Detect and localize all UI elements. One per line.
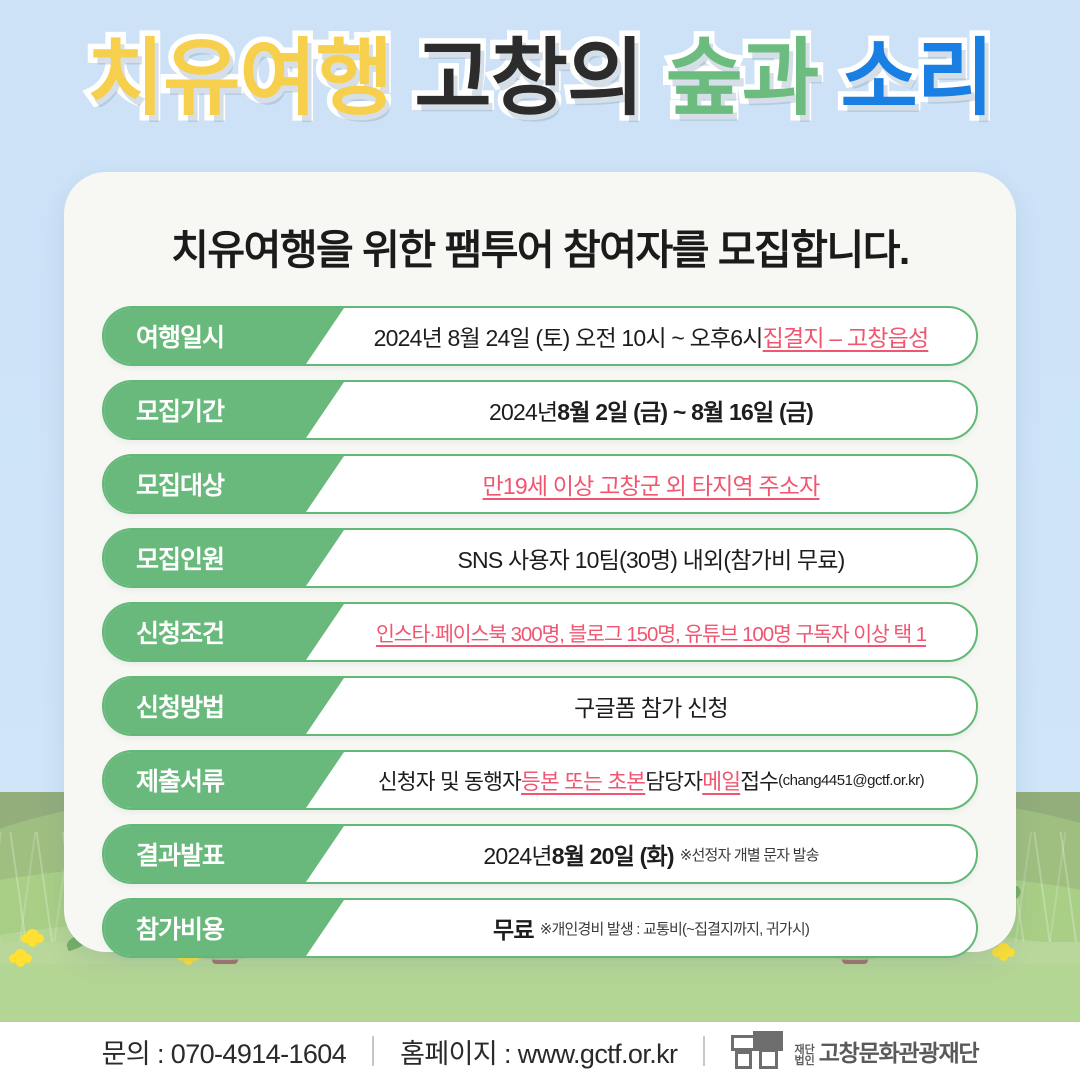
table-row: 신청방법 구글폼 참가 신청 — [102, 676, 978, 736]
table-row: 신청조건 인스타·페이스북 300명, 블로그 150명, 유튜브 100명 구… — [102, 602, 978, 662]
row-value-highlight: 인스타·페이스북 300명, 블로그 150명, 유튜브 100명 구독자 이상… — [376, 617, 926, 647]
table-row: 결과발표 2024년 8월 20일 (화)※선정자 개별 문자 발송 — [102, 824, 978, 884]
row-value-bold: 8월 20일 (화) — [552, 837, 674, 871]
table-row: 여행일시 2024년 8월 24일 (토) 오전 10시 ~ 오후6시 집결지 … — [102, 306, 978, 366]
row-value-text: 2024년 — [489, 393, 557, 427]
row-value-note: ※개인경비 발생 : 교통비(~집결지까지, 귀가시) — [540, 918, 809, 939]
row-value-bold: 8월 2일 (금) ~ 8월 16일 (금) — [557, 393, 813, 427]
row-label-recruit-period: 모집기간 — [104, 382, 344, 438]
flower-icon — [26, 929, 39, 942]
row-value-highlight-2: 메일 — [702, 765, 740, 796]
table-row: 모집인원 SNS 사용자 10팀(30명) 내외(참가비 무료) — [102, 528, 978, 588]
row-value-eligibility: 만19세 이상 고창군 외 타지역 주소자 — [344, 456, 976, 512]
row-value-headcount: SNS 사용자 10팀(30명) 내외(참가비 무료) — [344, 530, 976, 586]
title-part-1: 치유여행 — [87, 31, 392, 125]
row-value-email: (chang4451@gctf.or.kr) — [778, 772, 924, 789]
title-part-4: 소리 — [841, 31, 994, 125]
table-row: 참가비용 무료※개인경비 발생 : 교통비(~집결지까지, 귀가시) — [102, 898, 978, 958]
row-value-fee: 무료※개인경비 발생 : 교통비(~집결지까지, 귀가시) — [344, 900, 976, 956]
row-value-text: 2024년 8월 24일 (토) 오전 10시 ~ 오후6시 — [374, 319, 763, 353]
row-value-documents: 신청자 및 동행자 등본 또는 초본 담당자 메일 접수(chang4451@g… — [344, 752, 976, 808]
org-prefix-line2: 법인 — [794, 1056, 814, 1068]
info-card: 치유여행을 위한 팸투어 참여자를 모집합니다. 여행일시 2024년 8월 2… — [64, 172, 1016, 952]
footer-divider — [372, 1036, 374, 1066]
row-label-requirements: 신청조건 — [104, 604, 344, 660]
card-heading: 치유여행을 위한 팸투어 참여자를 모집합니다. — [64, 216, 1016, 276]
row-label-documents: 제출서류 — [104, 752, 344, 808]
row-label-how-to-apply: 신청방법 — [104, 678, 344, 734]
row-value-note: ※선정자 개별 문자 발송 — [680, 844, 819, 865]
row-value-text: 신청자 및 동행자 — [378, 765, 521, 796]
row-value-text-2: 담당자 — [645, 765, 702, 796]
row-label-headcount: 모집인원 — [104, 530, 344, 586]
poster-title: 치유여행 고창의 숲과 소리 — [0, 34, 1080, 122]
table-row: 모집대상 만19세 이상 고창군 외 타지역 주소자 — [102, 454, 978, 514]
row-value-bold: 무료 — [493, 911, 534, 945]
poster-footer: 문의 : 070-4914-1604 홈페이지 : www.gctf.or.kr… — [0, 1022, 1080, 1080]
row-value-highlight-1: 등본 또는 초본 — [521, 765, 645, 796]
foundation-logo-icon — [731, 1031, 785, 1071]
row-value-requirements: 인스타·페이스북 300명, 블로그 150명, 유튜브 100명 구독자 이상… — [344, 604, 976, 660]
row-label-travel-date: 여행일시 — [104, 308, 344, 364]
info-row-list: 여행일시 2024년 8월 24일 (토) 오전 10시 ~ 오후6시 집결지 … — [64, 306, 1016, 958]
organization-logo: 재단 법인 고창문화관광재단 — [731, 1031, 978, 1071]
table-row: 모집기간 2024년 8월 2일 (금) ~ 8월 16일 (금) — [102, 380, 978, 440]
row-value-announcement: 2024년 8월 20일 (화)※선정자 개별 문자 발송 — [344, 826, 976, 882]
org-name: 고창문화관광재단 — [819, 1034, 979, 1068]
row-value-how-to-apply: 구글폼 참가 신청 — [344, 678, 976, 734]
title-part-2: 고창의 — [414, 31, 643, 125]
row-value-highlight: 집결지 – 고창읍성 — [763, 319, 929, 353]
row-value-travel-date: 2024년 8월 24일 (토) 오전 10시 ~ 오후6시 집결지 – 고창읍… — [344, 308, 976, 364]
flower-icon — [14, 949, 27, 962]
row-label-announcement: 결과발표 — [104, 826, 344, 882]
homepage-url[interactable]: 홈페이지 : www.gctf.or.kr — [400, 1032, 677, 1071]
contact-phone[interactable]: 문의 : 070-4914-1604 — [102, 1032, 347, 1071]
table-row: 제출서류 신청자 및 동행자 등본 또는 초본 담당자 메일 접수(chang4… — [102, 750, 978, 810]
row-label-eligibility: 모집대상 — [104, 456, 344, 512]
title-part-3: 숲과 — [666, 31, 819, 125]
poster-root: 치유여행 고창의 숲과 소리 치유여행을 위한 팸투어 참여자를 모집합니다. … — [0, 0, 1080, 1080]
row-value-text: 2024년 — [483, 837, 551, 871]
row-value-highlight: 만19세 이상 고창군 외 타지역 주소자 — [483, 467, 820, 501]
footer-divider — [703, 1036, 705, 1066]
row-value-recruit-period: 2024년 8월 2일 (금) ~ 8월 16일 (금) — [344, 382, 976, 438]
row-value-text-3: 접수 — [740, 765, 778, 796]
organization-name-block: 재단 법인 고창문화관광재단 — [794, 1034, 978, 1068]
row-label-fee: 참가비용 — [104, 900, 344, 956]
